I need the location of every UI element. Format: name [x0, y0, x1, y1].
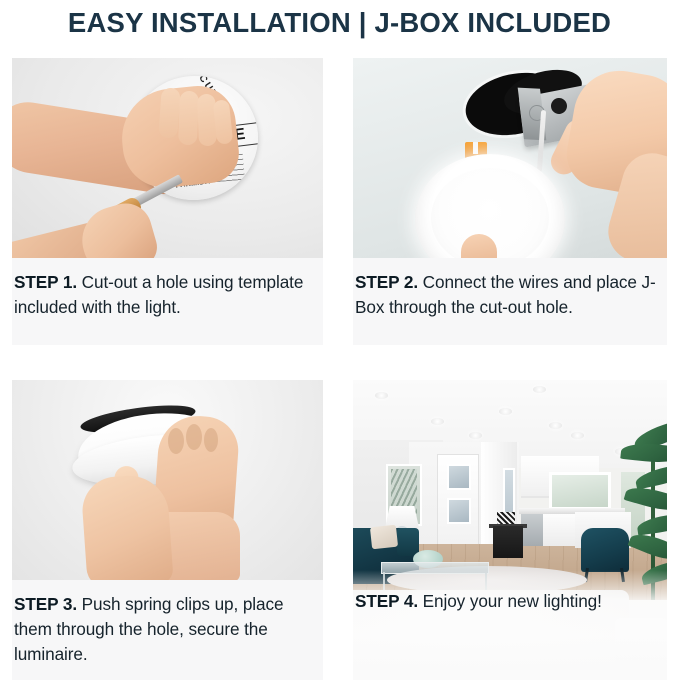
knuckle-1 — [168, 428, 184, 454]
steps-grid: CUT-OUT TEMPLATE PARMIDA STEP 1. — [12, 58, 667, 680]
recessed-light-8 — [499, 408, 512, 415]
recessed-light-5 — [549, 422, 562, 429]
sofa-pillow — [370, 525, 398, 550]
cut-out-hole-photo: CUT-OUT TEMPLATE PARMIDA — [12, 58, 323, 258]
step-1-label: STEP 1. — [14, 272, 82, 292]
plant-leaf-2 — [620, 441, 667, 465]
page-title: EASY INSTALLATION | J-BOX INCLUDED — [68, 7, 611, 39]
kitchen-window — [549, 472, 611, 510]
step-card-4: STEP 4. Enjoy your new lighting! — [353, 380, 667, 680]
knuckle-3 — [204, 428, 218, 452]
step-card-2: STEP 2. Connect the wires and place J-Bo… — [353, 58, 667, 345]
console-table — [493, 526, 523, 558]
knuckle-2 — [186, 424, 202, 450]
finger-2 — [178, 91, 199, 146]
sofa-arm — [397, 528, 419, 556]
recessed-light-2 — [431, 418, 444, 425]
photo-bottom-fade — [353, 570, 667, 680]
step-4-caption: STEP 4. Enjoy your new lighting! — [353, 589, 667, 614]
door-window-lower — [447, 498, 471, 524]
step-card-1: CUT-OUT TEMPLATE PARMIDA STEP 1. — [12, 58, 323, 345]
step-3-label: STEP 3. — [14, 594, 82, 614]
door-window-upper — [447, 464, 471, 490]
installation-infographic: EASY INSTALLATION | J-BOX INCLUDED CUT-O… — [0, 0, 679, 680]
finished-living-room-photo: STEP 4. Enjoy your new lighting! — [353, 380, 667, 680]
step-3-caption: STEP 3. Push spring clips up, place them… — [12, 580, 323, 677]
step-1-caption: STEP 1. Cut-out a hole using template in… — [12, 258, 323, 330]
step-4-label: STEP 4. — [355, 591, 423, 611]
step-2-label: STEP 2. — [355, 272, 423, 292]
recessed-light-6 — [571, 432, 584, 439]
header: EASY INSTALLATION | J-BOX INCLUDED — [0, 0, 679, 46]
recessed-light-3 — [469, 432, 482, 439]
recessed-light-1 — [375, 392, 388, 399]
step-2-caption: STEP 2. Connect the wires and place J-Bo… — [353, 258, 667, 330]
step-4-text: Enjoy your new lighting! — [423, 591, 602, 611]
recessed-light-4 — [533, 386, 546, 393]
dishwasher — [521, 514, 543, 546]
step-card-3: STEP 3. Push spring clips up, place them… — [12, 380, 323, 680]
push-spring-clips-photo — [12, 380, 323, 580]
finger-1 — [158, 87, 180, 138]
connect-wires-jbox-photo — [353, 58, 667, 258]
